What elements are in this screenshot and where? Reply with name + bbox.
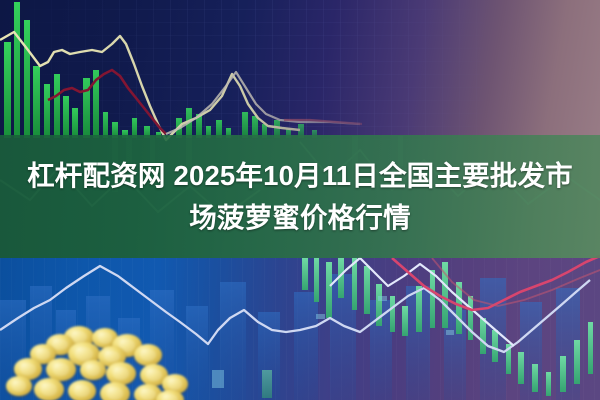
headline-line-2: 场菠萝蜜价格行情 xyxy=(189,198,411,238)
gold-coin-pile xyxy=(6,326,192,400)
chart-grid-texture xyxy=(0,0,600,140)
price-quote-banner: 杠杆配资网 2025年10月11日全国主要批发市 场菠萝蜜价格行情 xyxy=(0,0,600,400)
headline-line-1: 杠杆配资网 2025年10月11日全国主要批发市 xyxy=(27,156,573,196)
banner-title: 杠杆配资网 2025年10月11日全国主要批发市 场菠萝蜜价格行情 xyxy=(0,135,600,258)
